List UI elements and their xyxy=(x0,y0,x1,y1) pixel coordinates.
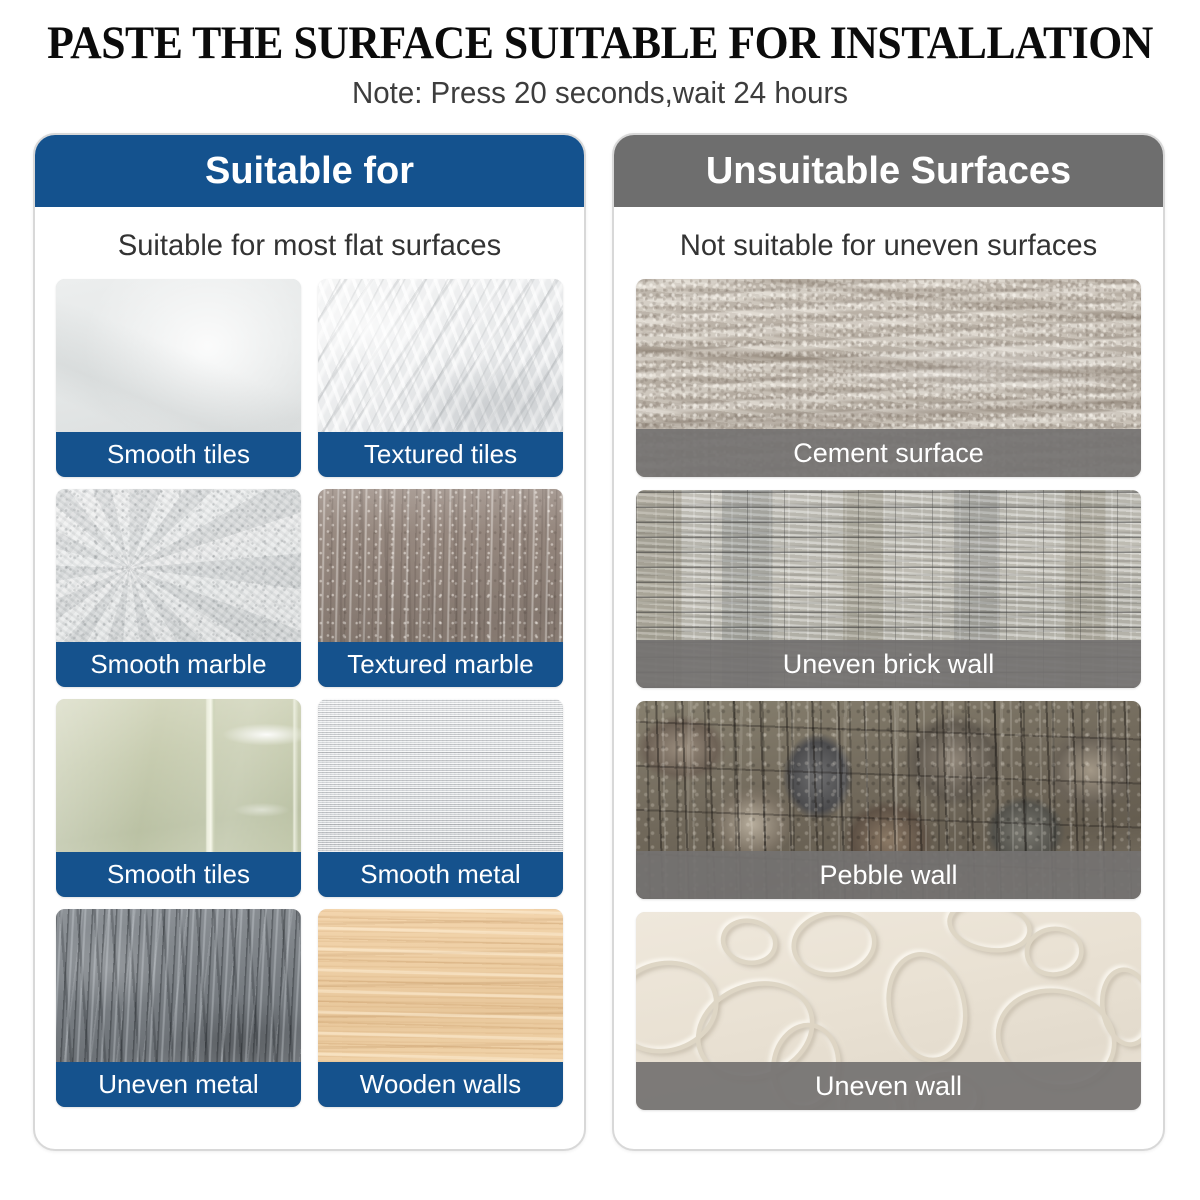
suitable-panel-header: Suitable for xyxy=(35,135,584,207)
surface-card-label: Cement surface xyxy=(636,429,1141,477)
surface-card-label: Uneven metal xyxy=(56,1062,301,1107)
surface-card-label: Smooth marble xyxy=(56,642,301,687)
suitable-panel-subtitle: Suitable for most flat surfaces xyxy=(43,207,576,279)
surface-card-uneven-wall[interactable]: Uneven wall xyxy=(636,912,1141,1110)
surface-card-smooth-tiles[interactable]: Smooth tiles xyxy=(56,279,301,477)
surface-card-label: Textured marble xyxy=(318,642,563,687)
unsuitable-panel-subtitle: Not suitable for uneven surfaces xyxy=(622,207,1155,279)
surface-card-smooth-marble[interactable]: Smooth marble xyxy=(56,489,301,687)
infographic-page: PASTE THE SURFACE SUITABLE FOR INSTALLAT… xyxy=(0,0,1200,1200)
surface-card-textured-tiles[interactable]: Textured tiles xyxy=(318,279,563,477)
suitable-surface-grid: Smooth tiles Textured tiles Smooth marbl… xyxy=(35,279,584,1107)
suitable-panel: Suitable for Suitable for most flat surf… xyxy=(33,133,586,1151)
surface-card-uneven-brick-wall[interactable]: Uneven brick wall xyxy=(636,490,1141,688)
surface-card-label: Uneven wall xyxy=(636,1062,1141,1110)
surface-card-smooth-glass-tiles[interactable]: Smooth tiles xyxy=(56,699,301,897)
unsuitable-panel-header: Unsuitable Surfaces xyxy=(614,135,1163,207)
surface-card-label: Textured tiles xyxy=(318,432,563,477)
surface-card-label: Smooth tiles xyxy=(56,432,301,477)
surface-card-label: Smooth tiles xyxy=(56,852,301,897)
unsuitable-surface-list: Cement surface Uneven brick wall Pebble … xyxy=(614,279,1163,1110)
surface-card-smooth-metal[interactable]: Smooth metal xyxy=(318,699,563,897)
surface-card-label: Wooden walls xyxy=(318,1062,563,1107)
surface-card-uneven-metal[interactable]: Uneven metal xyxy=(56,909,301,1107)
surface-card-textured-marble[interactable]: Textured marble xyxy=(318,489,563,687)
page-header: PASTE THE SURFACE SUITABLE FOR INSTALLAT… xyxy=(0,16,1200,111)
page-title: PASTE THE SURFACE SUITABLE FOR INSTALLAT… xyxy=(42,16,1158,70)
surface-card-cement-surface[interactable]: Cement surface xyxy=(636,279,1141,477)
page-subtitle-note: Note: Press 20 seconds,wait 24 hours xyxy=(30,75,1170,111)
unsuitable-panel: Unsuitable Surfaces Not suitable for une… xyxy=(612,133,1165,1151)
surface-card-pebble-wall[interactable]: Pebble wall xyxy=(636,701,1141,899)
surface-card-wooden-walls[interactable]: Wooden walls xyxy=(318,909,563,1107)
surface-card-label: Smooth metal xyxy=(318,852,563,897)
surface-card-label: Uneven brick wall xyxy=(636,640,1141,688)
surface-card-label: Pebble wall xyxy=(636,851,1141,899)
